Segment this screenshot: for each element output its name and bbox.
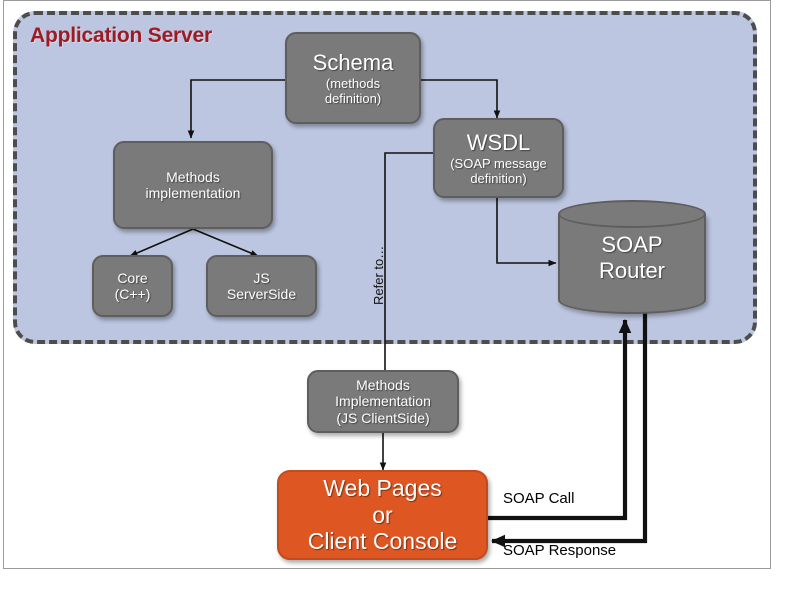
node-methods-implementation[interactable]: Methods implementation	[113, 141, 273, 229]
node-web-pages-line2: or	[372, 502, 392, 529]
diagram-canvas: Application Server	[0, 0, 786, 592]
node-soap-router[interactable]: SOAP Router	[558, 200, 706, 314]
node-core-line1: Core	[117, 270, 147, 286]
node-client-methods-line1: Methods	[356, 377, 410, 393]
node-web-pages-line3: Client Console	[308, 528, 458, 555]
node-web-pages-client-console[interactable]: Web Pages or Client Console	[277, 470, 488, 560]
edge-label-refer-to: Refer to…	[371, 246, 386, 305]
node-wsdl[interactable]: WSDL (SOAP message definition)	[433, 118, 564, 198]
node-web-pages-line1: Web Pages	[323, 475, 441, 502]
node-soap-router-line1: SOAP	[558, 232, 706, 258]
edge-label-soap-call: SOAP Call	[503, 490, 574, 507]
edge-label-soap-response: SOAP Response	[503, 542, 616, 559]
node-schema-line1: (methods	[326, 76, 380, 91]
node-core[interactable]: Core (C++)	[92, 255, 173, 317]
node-wsdl-line2: definition)	[470, 171, 526, 186]
page-title: Application Server	[30, 24, 212, 48]
node-core-line2: (C++)	[115, 286, 151, 302]
node-js-serverside-line2: ServerSide	[227, 286, 296, 302]
node-wsdl-title: WSDL	[467, 130, 531, 156]
node-wsdl-line1: (SOAP message	[450, 156, 547, 171]
node-client-methods-line2: Implementation	[335, 393, 431, 409]
soap-router-top	[558, 200, 706, 228]
node-methods-line1: Methods	[166, 169, 220, 185]
node-schema[interactable]: Schema (methods definition)	[285, 32, 421, 124]
node-soap-router-line2: Router	[558, 258, 706, 284]
node-schema-line2: definition)	[325, 91, 381, 106]
node-js-serverside[interactable]: JS ServerSide	[206, 255, 317, 317]
node-schema-title: Schema	[313, 50, 394, 76]
node-client-methods-implementation[interactable]: Methods Implementation (JS ClientSide)	[307, 370, 459, 433]
node-methods-line2: implementation	[146, 185, 241, 201]
soap-router-label: SOAP Router	[558, 232, 706, 283]
node-client-methods-line3: (JS ClientSide)	[336, 410, 429, 426]
node-js-serverside-line1: JS	[253, 270, 269, 286]
